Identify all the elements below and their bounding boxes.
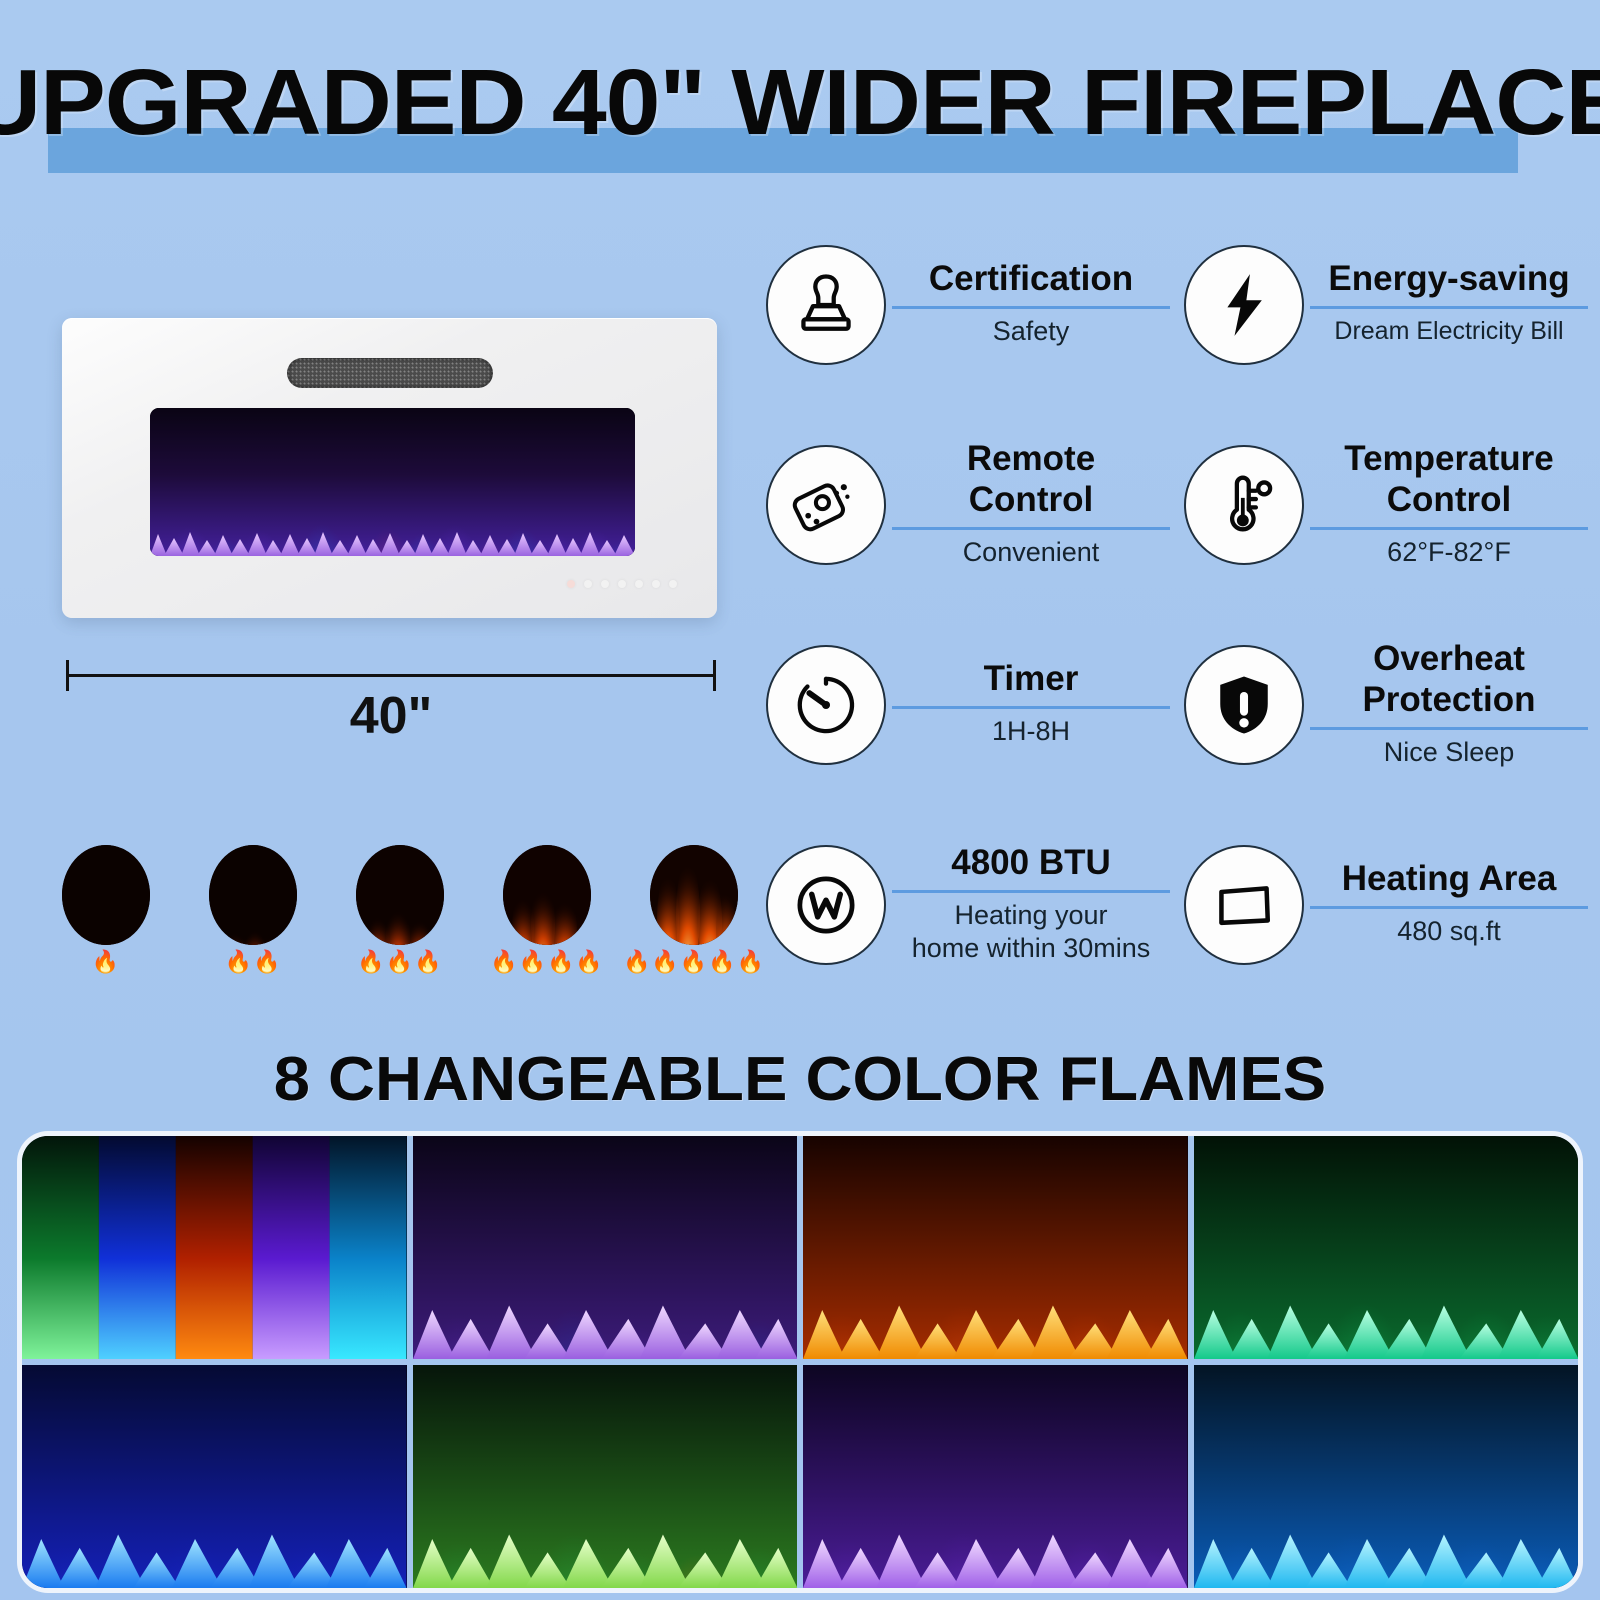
flame-count-label: 🔥🔥 — [225, 951, 282, 973]
feature-subtitle: Convenient — [963, 536, 1100, 569]
feature-subtitle: 1H-8H — [992, 715, 1070, 748]
control-button[interactable] — [584, 580, 592, 588]
feature-text: 4800 BTU Heating your home within 30mins — [892, 808, 1170, 998]
feature-energy-saving: Energy-saving Dream Electricity Bill — [1170, 208, 1588, 398]
shield-alert-icon — [1184, 645, 1304, 765]
color-tile-cyan-teal-flame — [1194, 1365, 1579, 1588]
section-title-color-flames: 8 CHANGEABLE COLOR FLAMES — [0, 1044, 1600, 1115]
feature-remote-control: Remote Control Convenient — [752, 408, 1170, 598]
feature-temperature-control: Temperature Control 62°F-82°F — [1170, 408, 1588, 598]
control-button[interactable] — [635, 580, 643, 588]
feature-timer: Timer 1H-8H — [752, 608, 1170, 798]
feature-title: Heating Area — [1342, 858, 1557, 899]
feature-text: Energy-saving Dream Electricity Bill — [1310, 208, 1588, 398]
feature-heating-area: Heating Area 480 sq.ft — [1170, 808, 1588, 998]
flame-level-preview — [62, 845, 150, 945]
feature-subtitle: 62°F-82°F — [1387, 536, 1511, 569]
infographic-canvas: UPGRADED 40" WIDER FIREPLACE — [0, 0, 1600, 1600]
color-tile-green-flame — [1194, 1136, 1579, 1359]
feature-divider — [1310, 906, 1588, 909]
dimension-label: 40" — [66, 686, 716, 746]
feature-grid: Certification Safety Energy-saving Dream… — [752, 208, 1588, 1008]
flame-level-preview — [356, 845, 444, 945]
dimension-line — [66, 674, 716, 677]
lightning-bolt-icon — [1184, 245, 1304, 365]
feature-divider — [892, 706, 1170, 709]
feature-subtitle: Nice Sleep — [1384, 736, 1515, 769]
flame-level-preview — [209, 845, 297, 945]
color-tile-orange-red-flame — [803, 1136, 1188, 1359]
product-image-fireplace — [62, 318, 717, 618]
flame-level-item: 🔥🔥🔥 — [354, 845, 446, 973]
feature-text: Temperature Control 62°F-82°F — [1310, 408, 1588, 598]
feature-title: Overheat Protection — [1362, 638, 1535, 720]
thermometer-icon — [1184, 445, 1304, 565]
feature-divider — [892, 306, 1170, 309]
flame-level-item: 🔥 — [60, 845, 152, 973]
color-tile-deep-blue-flame — [22, 1365, 407, 1588]
flame-count-label: 🔥🔥🔥 — [357, 951, 442, 973]
flame-level-item: 🔥🔥🔥🔥🔥 — [648, 845, 740, 973]
feature-text: Heating Area 480 sq.ft — [1310, 808, 1588, 998]
feature-title: Timer — [984, 658, 1079, 699]
heater-vent-grille — [287, 358, 493, 388]
feature-subtitle: Dream Electricity Bill — [1334, 315, 1563, 348]
stamp-icon — [766, 245, 886, 365]
flame-count-label: 🔥🔥🔥🔥🔥 — [623, 951, 765, 973]
remote-control-icon — [766, 445, 886, 565]
feature-text: Overheat Protection Nice Sleep — [1310, 608, 1588, 798]
page-title: UPGRADED 40" WIDER FIREPLACE — [0, 38, 1600, 166]
feature-subtitle: 480 sq.ft — [1397, 915, 1501, 948]
flame-level-item: 🔥🔥 — [207, 845, 299, 973]
feature-divider — [1310, 727, 1588, 730]
room-area-icon — [1184, 845, 1304, 965]
feature-divider — [892, 527, 1170, 530]
dimension-indicator: 40" — [66, 660, 716, 750]
feature-divider — [892, 890, 1170, 893]
feature-divider — [1310, 527, 1588, 530]
feature-text: Timer 1H-8H — [892, 608, 1170, 798]
crystal-ember-bed — [150, 522, 635, 556]
flame-count-label: 🔥🔥🔥🔥 — [490, 951, 604, 973]
feature-title: Energy-saving — [1328, 258, 1569, 299]
feature-divider — [1310, 306, 1588, 309]
control-button[interactable] — [601, 580, 609, 588]
power-button[interactable] — [567, 580, 575, 588]
feature-overheat-protection: Overheat Protection Nice Sleep — [1170, 608, 1588, 798]
feature-subtitle: Safety — [993, 315, 1070, 348]
color-flame-grid — [22, 1136, 1578, 1588]
flame-level-row: 🔥 🔥🔥 — [60, 845, 740, 975]
feature-btu: 4800 BTU Heating your home within 30mins — [752, 808, 1170, 998]
feature-certification: Certification Safety — [752, 208, 1170, 398]
feature-title: Remote Control — [967, 438, 1095, 520]
control-button-row[interactable] — [567, 580, 677, 588]
feature-text: Remote Control Convenient — [892, 408, 1170, 598]
feature-subtitle: Heating your home within 30mins — [912, 899, 1151, 965]
control-button[interactable] — [652, 580, 660, 588]
flame-level-preview — [650, 845, 738, 945]
flame-level-item: 🔥🔥🔥🔥 — [501, 845, 593, 973]
control-button[interactable] — [618, 580, 626, 588]
feature-title: Certification — [929, 258, 1133, 299]
control-button[interactable] — [669, 580, 677, 588]
stopwatch-icon — [766, 645, 886, 765]
color-tile-multi-color-bands — [22, 1136, 407, 1359]
feature-title: Temperature Control — [1344, 438, 1553, 520]
color-tile-violet-flame — [803, 1365, 1188, 1588]
color-tile-green-orange-flame — [413, 1365, 798, 1588]
feature-text: Certification Safety — [892, 208, 1170, 398]
flame-level-preview — [503, 845, 591, 945]
headline-block: UPGRADED 40" WIDER FIREPLACE — [0, 38, 1600, 168]
flame-display-window — [150, 408, 635, 556]
flame-count-label: 🔥 — [92, 951, 120, 973]
color-tile-purple-blue-flame — [413, 1136, 798, 1359]
feature-title: 4800 BTU — [951, 842, 1111, 883]
watt-circle-icon — [766, 845, 886, 965]
